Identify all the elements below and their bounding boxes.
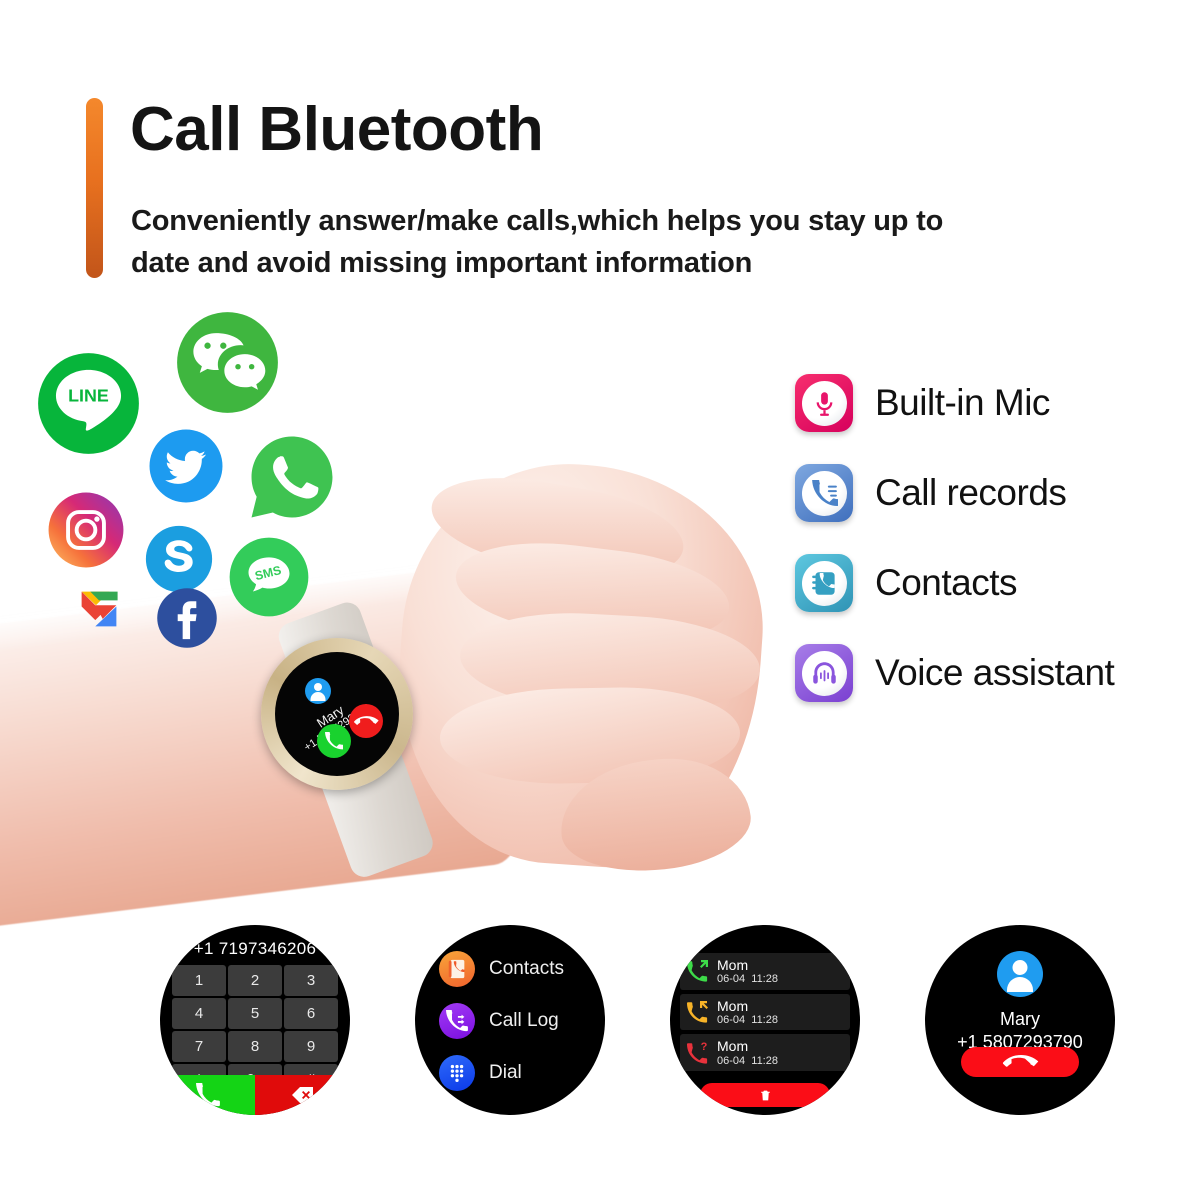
dialpad-key[interactable]: 1 (172, 965, 226, 996)
watch-bezel: Mary +1 5807293790 (261, 638, 413, 790)
dialpad-key[interactable]: 8 (228, 1031, 282, 1062)
watch-screen-menu: Contacts Call Log (415, 925, 605, 1115)
dialpad-key[interactable]: 4 (172, 998, 226, 1029)
app-logo-facebook (156, 587, 218, 649)
dialpad-key[interactable]: 3 (284, 965, 338, 996)
call-records-icon (802, 471, 847, 516)
dialpad-icon (439, 1055, 475, 1091)
menu-item-label: Dial (489, 1062, 522, 1084)
watch-face-incoming-call: Mary +1 5807293790 (275, 652, 399, 776)
wrist-smartwatch: Mary +1 5807293790 (243, 600, 453, 830)
dialpad-key[interactable]: 7 (172, 1031, 226, 1062)
feature-tile (795, 644, 853, 702)
dialpad-key[interactable]: 2 (228, 965, 282, 996)
app-logo-wechat (175, 310, 280, 415)
feature-call-records: Call records (795, 448, 1114, 538)
app-logo-skype (143, 523, 215, 595)
contacts-icon (802, 561, 847, 606)
call-log-time: 11:28 (751, 973, 778, 985)
call-log-time: 11:28 (751, 1055, 778, 1067)
menu-item-label: Call Log (489, 1010, 559, 1032)
menu-item-dial[interactable]: Dial (439, 1055, 605, 1091)
call-log-meta: 06-04 11:28 (717, 1014, 778, 1027)
dialpad-key[interactable]: 5 (228, 998, 282, 1029)
menu-item-label: Contacts (489, 958, 564, 980)
page-subtitle: Conveniently answer/make calls,which hel… (131, 200, 1001, 284)
call-log-icon (439, 1003, 475, 1039)
feature-voice-assistant: Voice assistant (795, 628, 1114, 718)
svg-text:?: ? (701, 1041, 708, 1053)
avatar (997, 951, 1043, 997)
outgoing-call-icon (686, 959, 710, 983)
feature-list: Built-in Mic Call records (795, 358, 1114, 718)
product-feature-page: Call Bluetooth Conveniently answer/make … (0, 0, 1200, 1200)
dialpad-key[interactable]: 9 (284, 1031, 338, 1062)
call-log-text: Mom 06-04 11:28 (717, 957, 778, 986)
call-log-row[interactable]: ? Mom 06-04 11:28 (680, 1034, 850, 1071)
menu-item-call-log[interactable]: Call Log (439, 1003, 605, 1039)
dialpad-actions (160, 1075, 350, 1115)
mic-icon (802, 381, 847, 426)
feature-tile (795, 374, 853, 432)
call-log-date: 06-04 (717, 973, 745, 985)
call-log-time: 11:28 (751, 1014, 778, 1026)
trash-icon (759, 1089, 772, 1102)
menu-item-contacts[interactable]: Contacts (439, 951, 605, 987)
app-logo-twitter (148, 428, 224, 504)
app-logo-instagram (47, 491, 125, 569)
call-log-date: 06-04 (717, 1014, 745, 1026)
hangup-button[interactable] (961, 1047, 1079, 1077)
feature-tile (795, 554, 853, 612)
call-log-text: Mom 06-04 11:28 (717, 1038, 778, 1067)
accept-call-button[interactable] (317, 724, 351, 758)
feature-built-in-mic: Built-in Mic (795, 358, 1114, 448)
call-log-text: Mom 06-04 11:28 (717, 998, 778, 1027)
app-logo-gmail (68, 578, 130, 640)
missed-call-icon: ? (686, 1041, 710, 1065)
call-log-meta: 06-04 11:28 (717, 973, 778, 986)
call-log-name: Mom (717, 1038, 778, 1054)
watch-screen-call-log: Mom 06-04 11:28 Mom 06-04 11:28 (670, 925, 860, 1115)
watch-screen-active-call: Mary +1 5807293790 (925, 925, 1115, 1115)
feature-label: Voice assistant (875, 652, 1114, 694)
call-log-meta: 06-04 11:28 (717, 1055, 778, 1068)
feature-tile (795, 464, 853, 522)
call-log-row[interactable]: Mom 06-04 11:28 (680, 994, 850, 1031)
app-logo-whatsapp (246, 431, 338, 523)
call-log-date: 06-04 (717, 1055, 745, 1067)
active-call-name: Mary (925, 1009, 1115, 1030)
call-log-name: Mom (717, 957, 778, 973)
feature-contacts: Contacts (795, 538, 1114, 628)
backspace-icon (291, 1083, 315, 1107)
decline-call-button[interactable] (349, 704, 383, 738)
feature-label: Contacts (875, 562, 1017, 604)
feature-label: Call records (875, 472, 1066, 514)
phone-handset-icon (325, 732, 343, 750)
page-title: Call Bluetooth (130, 97, 543, 162)
app-logo-sms: SMS (228, 536, 310, 618)
call-log-row[interactable]: Mom 06-04 11:28 (680, 953, 850, 990)
dial-backspace-button[interactable] (255, 1075, 350, 1115)
dialpad-key[interactable]: 6 (284, 998, 338, 1029)
avatar (305, 678, 331, 704)
incoming-call-icon (686, 1000, 710, 1024)
svg-text:LINE: LINE (68, 385, 109, 405)
watch-screen-dialpad: +1 7197346206 1 2 3 4 5 6 7 8 9 * 0+ # (160, 925, 350, 1115)
phone-hangup-icon (1002, 1044, 1039, 1081)
contacts-book-icon (439, 951, 475, 987)
app-logo-line: LINE (36, 351, 141, 456)
call-log-name: Mom (717, 998, 778, 1014)
phone-handset-icon (353, 708, 378, 733)
phone-call-icon (196, 1083, 220, 1107)
feature-label: Built-in Mic (875, 382, 1050, 424)
dial-call-button[interactable] (160, 1075, 255, 1115)
voice-assistant-icon (802, 651, 847, 696)
delete-call-log-button[interactable] (700, 1083, 830, 1107)
accent-bar (86, 98, 103, 278)
